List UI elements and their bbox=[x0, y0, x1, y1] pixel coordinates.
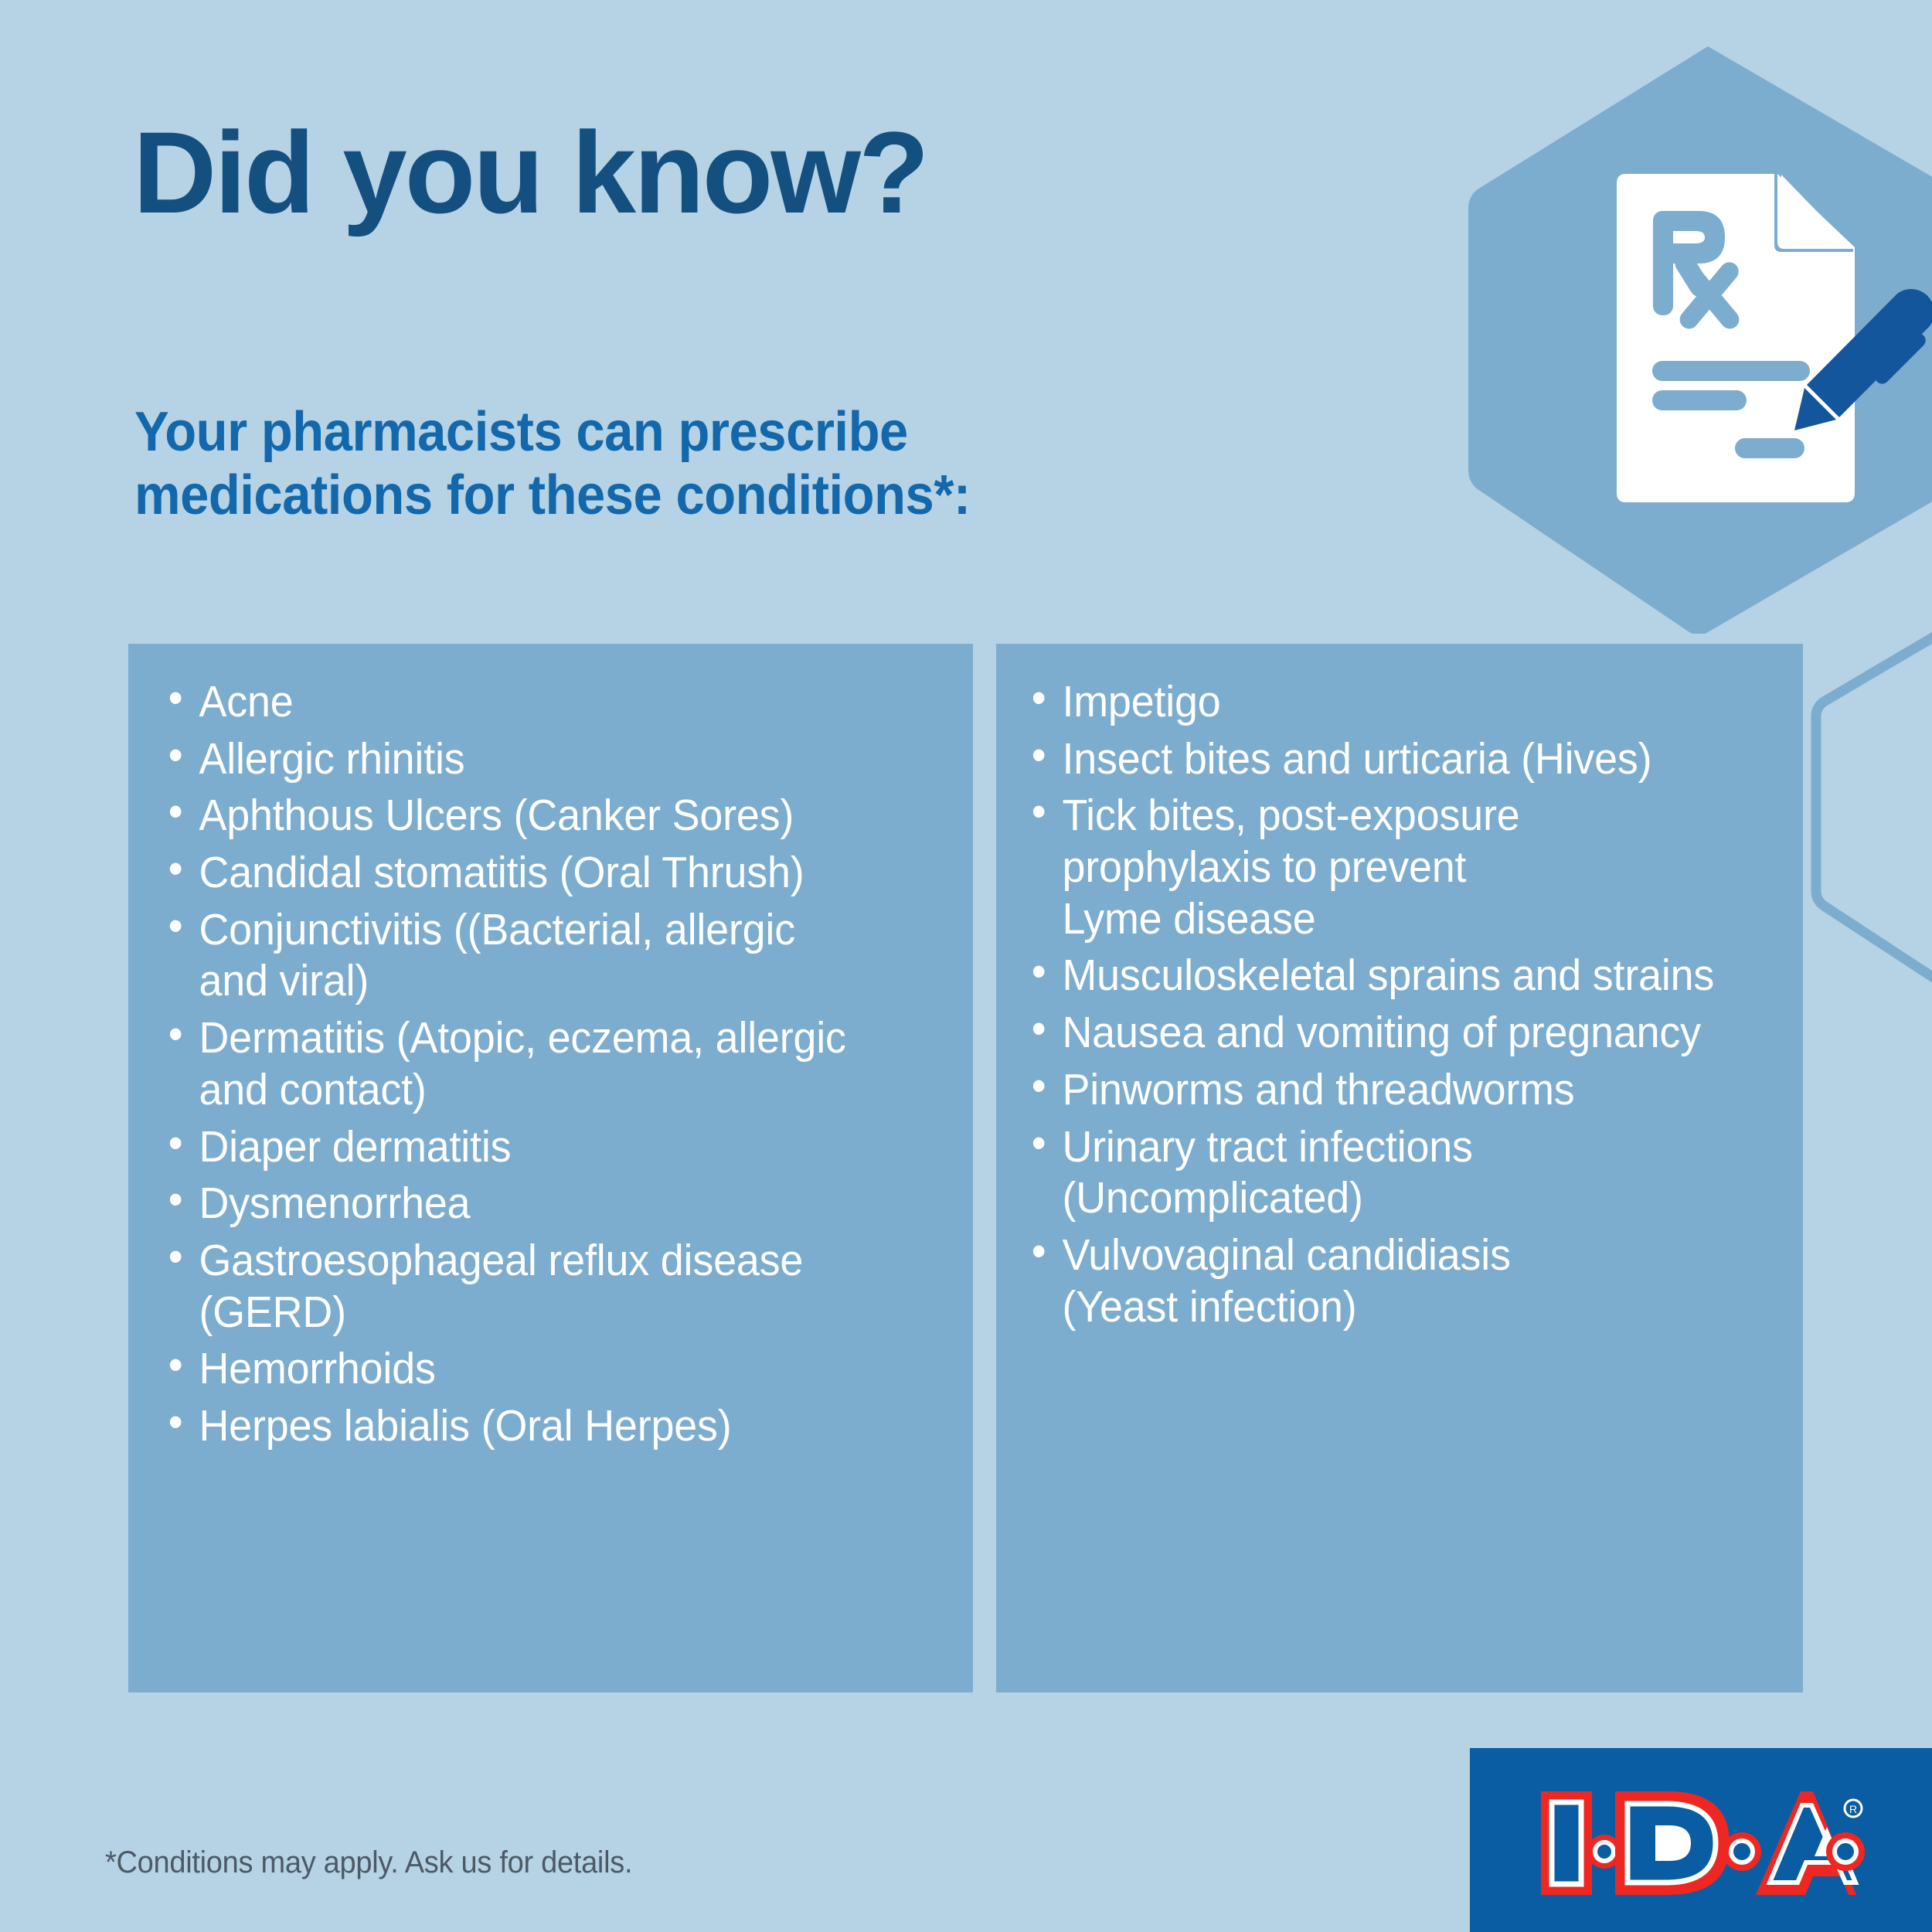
page-subtitle: Your pharmacists can prescribe medicatio… bbox=[134, 400, 971, 527]
list-item: •Candidal stomatitis (Oral Thrush) bbox=[165, 847, 906, 899]
bullet-icon: • bbox=[168, 1343, 182, 1357]
list-item: •Dysmenorrhea bbox=[165, 1178, 906, 1230]
condition-label: Acne bbox=[199, 676, 906, 728]
hexagon-badge bbox=[1453, 23, 1932, 634]
condition-label: Candidal stomatitis (Oral Thrush) bbox=[199, 847, 906, 899]
condition-label: Aphthous Ulcers (Canker Sores) bbox=[199, 790, 906, 842]
condition-label: Insect bites and urticaria (Hives) bbox=[1062, 733, 1738, 785]
list-item: •Impetigo bbox=[1029, 676, 1739, 728]
ida-logo: R bbox=[1538, 1785, 1870, 1901]
list-item: •Gastroesophageal reflux disease (GERD) bbox=[165, 1235, 906, 1338]
condition-label: Urinary tract infections (Uncomplicated) bbox=[1062, 1121, 1738, 1224]
bullet-icon: • bbox=[168, 847, 182, 861]
bullet-icon: • bbox=[168, 790, 182, 804]
list-item: •Tick bites, post-exposure prophylaxis t… bbox=[1029, 790, 1739, 944]
condition-label: Impetigo bbox=[1062, 676, 1738, 728]
condition-label: Tick bites, post-exposure prophylaxis to… bbox=[1062, 790, 1738, 944]
condition-label: Diaper dermatitis bbox=[199, 1121, 906, 1173]
list-item: •Dermatitis (Atopic, eczema, allergic an… bbox=[165, 1012, 906, 1115]
bullet-icon: • bbox=[1032, 1121, 1045, 1135]
condition-label: Dysmenorrhea bbox=[199, 1178, 906, 1230]
list-item: •Allergic rhinitis bbox=[165, 733, 906, 785]
conditions-panel-right: •Impetigo•Insect bites and urticaria (Hi… bbox=[996, 644, 1803, 1692]
bullet-icon: • bbox=[168, 1178, 182, 1192]
conditions-list-left: •Acne•Allergic rhinitis•Aphthous Ulcers … bbox=[165, 676, 950, 1452]
bullet-icon: • bbox=[1032, 733, 1045, 747]
list-item: •Diaper dermatitis bbox=[165, 1121, 906, 1173]
bullet-icon: • bbox=[168, 1400, 182, 1414]
bullet-icon: • bbox=[168, 1235, 182, 1249]
bullet-icon: • bbox=[1032, 950, 1045, 964]
list-item: •Insect bites and urticaria (Hives) bbox=[1029, 733, 1739, 785]
bullet-icon: • bbox=[168, 1012, 182, 1026]
condition-label: Nausea and vomiting of pregnancy bbox=[1062, 1007, 1738, 1059]
condition-label: Vulvovaginal candidiasis (Yeast infectio… bbox=[1062, 1230, 1738, 1332]
condition-label: Pinworms and threadworms bbox=[1062, 1064, 1738, 1116]
list-item: •Pinworms and threadworms bbox=[1029, 1064, 1739, 1116]
bullet-icon: • bbox=[168, 733, 182, 747]
bullet-icon: • bbox=[1032, 1064, 1045, 1078]
condition-label: Herpes labialis (Oral Herpes) bbox=[199, 1400, 906, 1452]
list-item: •Urinary tract infections (Uncomplicated… bbox=[1029, 1121, 1739, 1224]
condition-label: Musculoskeletal sprains and strains bbox=[1062, 950, 1738, 1002]
infographic-canvas: Did you know? Your pharmacists can presc… bbox=[0, 0, 1932, 1932]
rx-prescription-icon bbox=[1617, 174, 1932, 502]
registered-trademark-icon: R bbox=[1845, 1800, 1862, 1817]
bullet-icon: • bbox=[1032, 790, 1045, 804]
page-title: Did you know? bbox=[133, 114, 927, 230]
condition-label: Gastroesophageal reflux disease (GERD) bbox=[199, 1235, 906, 1338]
list-item: •Musculoskeletal sprains and strains bbox=[1029, 950, 1739, 1002]
bullet-icon: • bbox=[1032, 676, 1045, 690]
list-item: •Hemorrhoids bbox=[165, 1343, 906, 1395]
conditions-list-right: •Impetigo•Insect bites and urticaria (Hi… bbox=[1029, 676, 1780, 1332]
bullet-icon: • bbox=[1032, 1007, 1045, 1021]
bullet-icon: • bbox=[168, 676, 182, 690]
svg-text:R: R bbox=[1849, 1803, 1857, 1815]
hexagon-outline bbox=[1801, 595, 1932, 1012]
bullet-icon: • bbox=[168, 1121, 182, 1135]
condition-label: Hemorrhoids bbox=[199, 1343, 906, 1395]
list-item: •Conjunctivitis ((Bacterial, allergic an… bbox=[165, 904, 906, 1007]
list-item: •Aphthous Ulcers (Canker Sores) bbox=[165, 790, 906, 842]
list-item: •Vulvovaginal candidiasis (Yeast infecti… bbox=[1029, 1230, 1739, 1332]
footnote-disclaimer: *Conditions may apply. Ask us for detail… bbox=[105, 1845, 632, 1880]
list-item: •Acne bbox=[165, 676, 906, 728]
conditions-panel-left: •Acne•Allergic rhinitis•Aphthous Ulcers … bbox=[128, 644, 973, 1692]
condition-label: Conjunctivitis ((Bacterial, allergic and… bbox=[199, 904, 906, 1007]
bullet-icon: • bbox=[1032, 1230, 1045, 1243]
ida-logo-block: R bbox=[1470, 1748, 1932, 1932]
condition-label: Dermatitis (Atopic, eczema, allergic and… bbox=[199, 1012, 906, 1115]
list-item: •Herpes labialis (Oral Herpes) bbox=[165, 1400, 906, 1452]
list-item: •Nausea and vomiting of pregnancy bbox=[1029, 1007, 1739, 1059]
condition-label: Allergic rhinitis bbox=[199, 733, 906, 785]
bullet-icon: • bbox=[168, 904, 182, 918]
